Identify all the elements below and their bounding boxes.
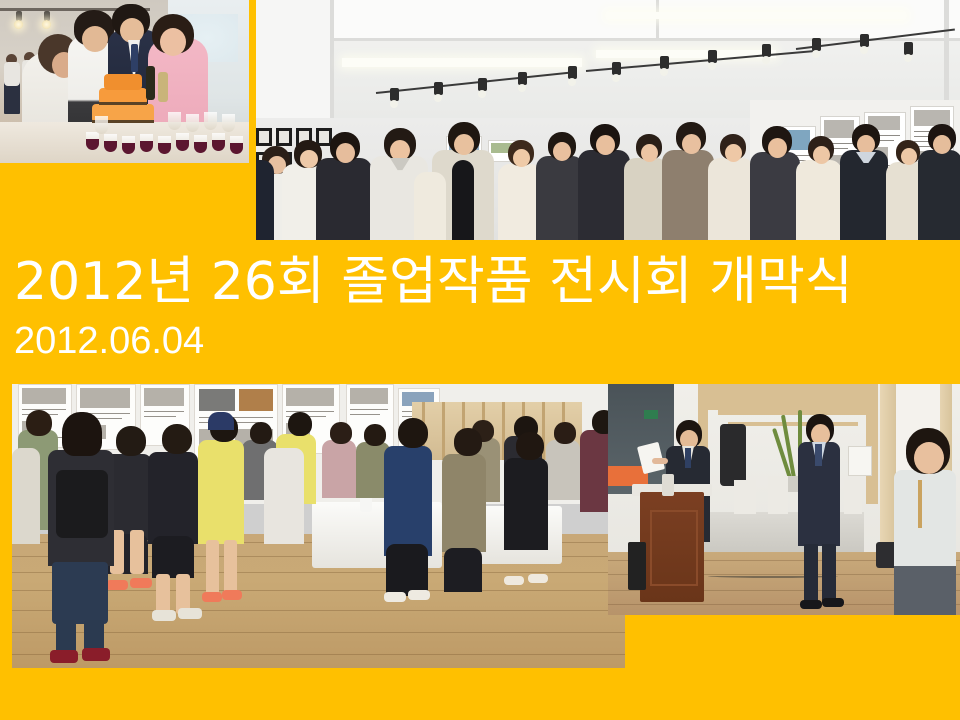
presentation-slide: 2012년 26회 졸업작품 전시회 개막식 2012.06.04 bbox=[0, 0, 960, 720]
photo-students-reception[interactable] bbox=[12, 384, 625, 668]
group-gallery-scene bbox=[256, 0, 960, 240]
photo-group-gallery[interactable] bbox=[256, 0, 960, 240]
page-title: 2012년 26회 졸업작품 전시회 개막식 bbox=[14, 256, 853, 308]
students-reception-scene bbox=[12, 384, 625, 668]
photo-podium-speech[interactable] bbox=[608, 384, 960, 615]
podium-speech-scene bbox=[608, 384, 960, 615]
photo-cake-cutting[interactable] bbox=[0, 0, 249, 163]
cake-cutting-scene bbox=[0, 0, 249, 163]
page-subtitle-date: 2012.06.04 bbox=[14, 322, 204, 360]
